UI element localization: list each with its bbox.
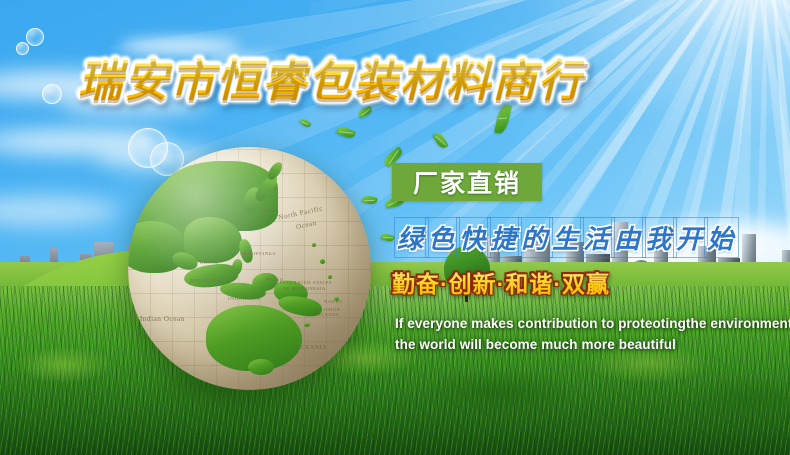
english-tagline: If everyone makes contribution to proteo… (395, 313, 785, 355)
slogan-char-5: 生 (551, 219, 582, 256)
slogan-char-6: 活 (582, 219, 613, 256)
english-tagline-line1: If everyone makes contribution to proteo… (395, 313, 785, 334)
page-title: 瑞安市恒睿包装材料商行 (78, 45, 584, 109)
globe-graphic: North PacificOceanIndian OceanPHILIPPINE… (128, 147, 371, 390)
slogan-char-4: 的 (520, 219, 551, 256)
slogan-char-9: 开 (675, 219, 706, 256)
english-tagline-line2: the world will become much more beautifu… (395, 334, 785, 355)
slogan-char-1: 色 (427, 219, 458, 256)
globe-highlight (128, 147, 371, 390)
slogan-char-0: 绿 (396, 219, 427, 256)
slogan-char-8: 我 (644, 219, 675, 256)
slogan-char-3: 捷 (489, 219, 520, 256)
grass-foreground (0, 286, 790, 455)
slogan-primary: 绿色快捷的生活由我开始 (396, 219, 737, 256)
slogan-char-7: 由 (613, 219, 644, 256)
promo-banner: North PacificOceanIndian OceanPHILIPPINE… (0, 0, 790, 455)
status-badge: 厂家直销 (392, 163, 542, 201)
slogan-secondary: 勤奋·创新·和谐·双赢 (392, 265, 610, 299)
slogan-char-10: 始 (706, 219, 737, 256)
slogan-char-2: 快 (458, 219, 489, 256)
badge-label: 厂家直销 (413, 164, 521, 200)
